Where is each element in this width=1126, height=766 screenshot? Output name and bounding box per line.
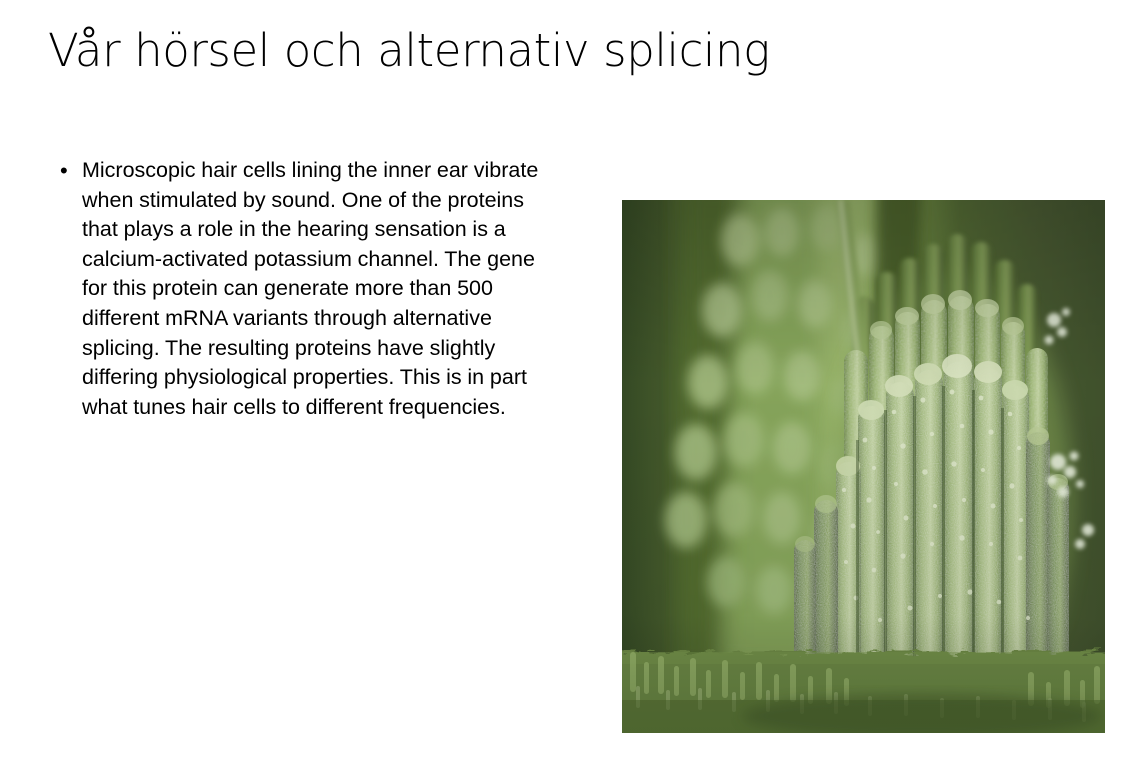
bullet-marker-icon: •: [56, 156, 82, 186]
micrograph-artwork: [622, 200, 1105, 733]
page-title: Vår hörsel och alternativ splicing: [48, 24, 1048, 77]
bullet-list: • Microscopic hair cells lining the inne…: [56, 156, 556, 422]
presentation-slide: Vår hörsel och alternativ splicing • Mic…: [0, 0, 1126, 766]
bullet-item-text: Microscopic hair cells lining the inner …: [82, 156, 556, 422]
list-item: • Microscopic hair cells lining the inne…: [56, 156, 556, 422]
stereocilia-micrograph-image: [622, 200, 1105, 733]
